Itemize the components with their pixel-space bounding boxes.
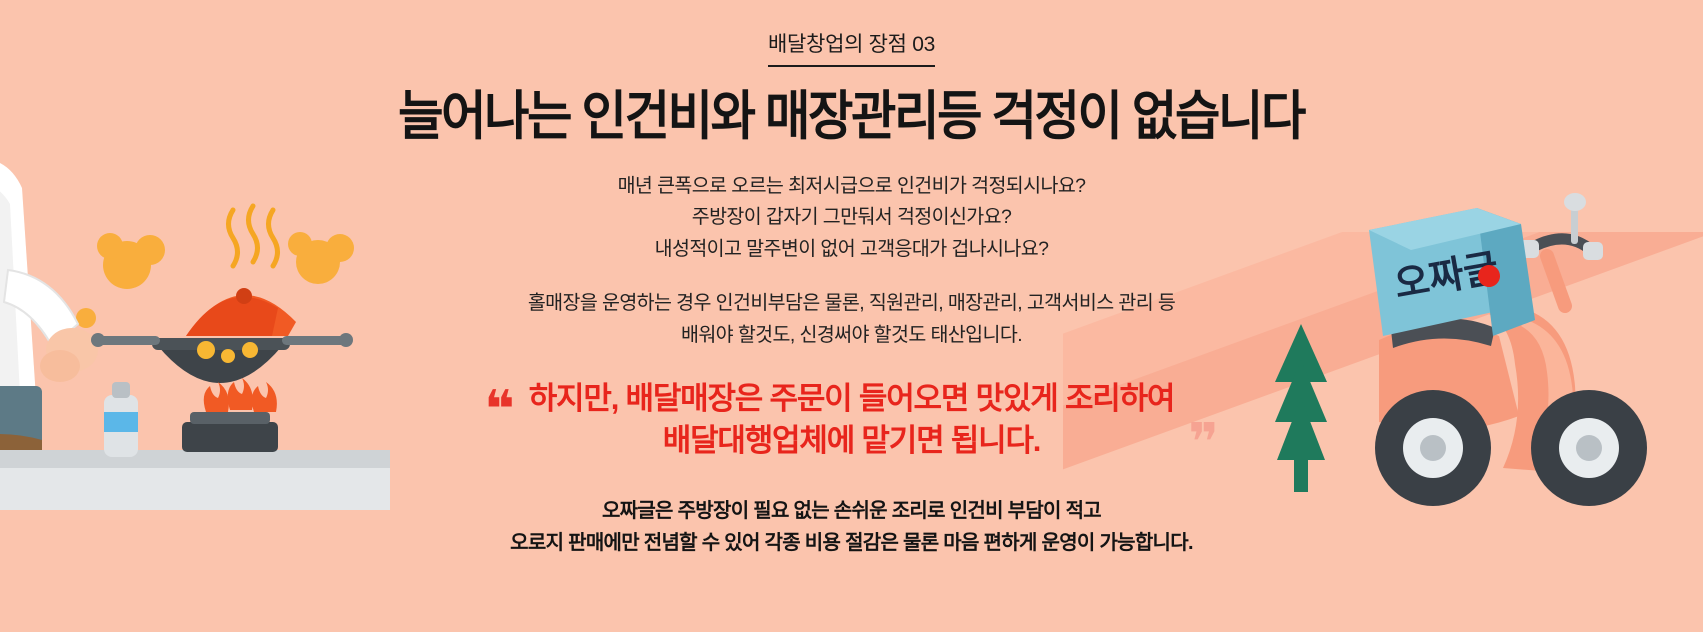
closing-line: 오짜글은 주방장이 필요 없는 손쉬운 조리로 인건비 부담이 적고 (510, 495, 1193, 527)
question-line: 내성적이고 말주변이 없어 고객응대가 겁나시나요? (618, 234, 1086, 266)
quote-close-icon: ❞ (1188, 417, 1219, 469)
question-line: 주방장이 갑자기 그만둬서 걱정이신가요? (618, 202, 1086, 234)
page-title: 늘어나는 인건비와 매장관리등 걱정이 없습니다 (399, 89, 1305, 145)
banner-content: 배달창업의 장점 03 늘어나는 인건비와 매장관리등 걱정이 없습니다 매년 … (0, 0, 1703, 632)
closing-line: 오로지 판매에만 전념할 수 있어 각종 비용 절감은 물론 마음 편하게 운영… (510, 527, 1193, 559)
closing-paragraph: 오짜글은 주방장이 필요 없는 손쉬운 조리로 인건비 부담이 적고 오로지 판… (510, 495, 1193, 560)
quote-open-icon: ❝ (484, 384, 515, 436)
highlight-quote: ❝ 하지만, 배달매장은 주문이 들어오면 맛있게 조리하여 배달대행업체에 맡… (484, 378, 1219, 464)
eyebrow-label: 배달창업의 장점 03 (768, 28, 935, 67)
quote-line: 하지만, 배달매장은 주문이 들어오면 맛있게 조리하여 (529, 378, 1175, 421)
question-paragraph: 매년 큰폭으로 오르는 최저시급으로 인건비가 걱정되시나요? 주방장이 갑자기… (618, 171, 1086, 266)
promo-banner: 오짜글 배달창업의 장점 03 늘어나는 인건비와 매장관리등 걱정이 없습니다 (0, 0, 1703, 632)
burden-line: 홀매장을 운영하는 경우 인건비부담은 물론, 직원관리, 매장관리, 고객서비… (528, 288, 1175, 320)
burden-paragraph: 홀매장을 운영하는 경우 인건비부담은 물론, 직원관리, 매장관리, 고객서비… (528, 288, 1175, 352)
quote-text: 하지만, 배달매장은 주문이 들어오면 맛있게 조리하여 배달대행업체에 맡기면… (529, 378, 1175, 464)
burden-line: 배워야 할것도, 신경써야 할것도 태산입니다. (528, 320, 1175, 352)
quote-line: 배달대행업체에 맡기면 됩니다. (529, 420, 1175, 463)
question-line: 매년 큰폭으로 오르는 최저시급으로 인건비가 걱정되시나요? (618, 171, 1086, 203)
